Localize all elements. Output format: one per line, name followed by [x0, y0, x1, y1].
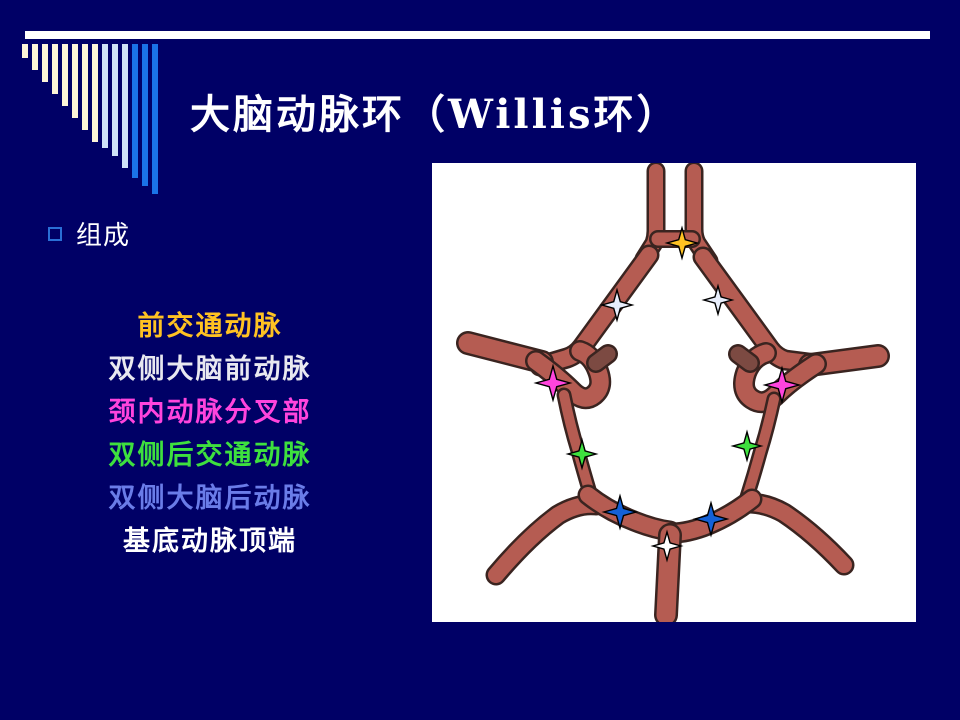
bullet-heading-label: 组成: [76, 215, 130, 252]
decorative-bar-graphic: [22, 44, 172, 204]
decorative-bar: [92, 44, 98, 142]
decorative-bar: [122, 44, 128, 168]
left-pcom-artery-fill: [564, 395, 590, 493]
decorative-bar: [142, 44, 148, 186]
decorative-bar: [72, 44, 78, 118]
decorative-bar: [112, 44, 118, 156]
page-title: 大脑动脉环（Willis环）: [190, 93, 790, 137]
slide-canvas: 大脑动脉环（Willis环） 组成 前交通动脉双侧大脑前动脉颈内动脉分叉部双侧后…: [0, 0, 960, 720]
decorative-bar: [52, 44, 58, 94]
component-list-item: 双侧大脑前动脉: [60, 348, 360, 391]
circle-of-willis-svg: [432, 163, 916, 622]
right-ica-stump-fill: [738, 354, 750, 363]
square-bullet-icon: [48, 227, 62, 241]
component-list-item: 前交通动脉: [60, 305, 360, 348]
decorative-bar: [102, 44, 108, 148]
component-list-item: 基底动脉顶端: [60, 520, 360, 563]
decorative-bar: [32, 44, 38, 70]
component-list-item: 双侧后交通动脉: [60, 434, 360, 477]
decorative-bar: [22, 44, 28, 58]
top-divider-rule: [25, 31, 930, 39]
component-list-item: 颈内动脉分叉部: [60, 391, 360, 434]
bullet-heading: 组成: [48, 215, 130, 252]
decorative-bar: [152, 44, 158, 194]
decorative-bar: [82, 44, 88, 130]
decorative-bar: [132, 44, 138, 178]
decorative-bar: [62, 44, 68, 106]
component-list-item: 双侧大脑后动脉: [60, 477, 360, 520]
circle-of-willis-figure: [432, 163, 916, 622]
component-list: 前交通动脉双侧大脑前动脉颈内动脉分叉部双侧后交通动脉双侧大脑后动脉基底动脉顶端: [60, 305, 360, 563]
decorative-bar: [42, 44, 48, 82]
left-ica-stump-fill: [596, 354, 608, 363]
